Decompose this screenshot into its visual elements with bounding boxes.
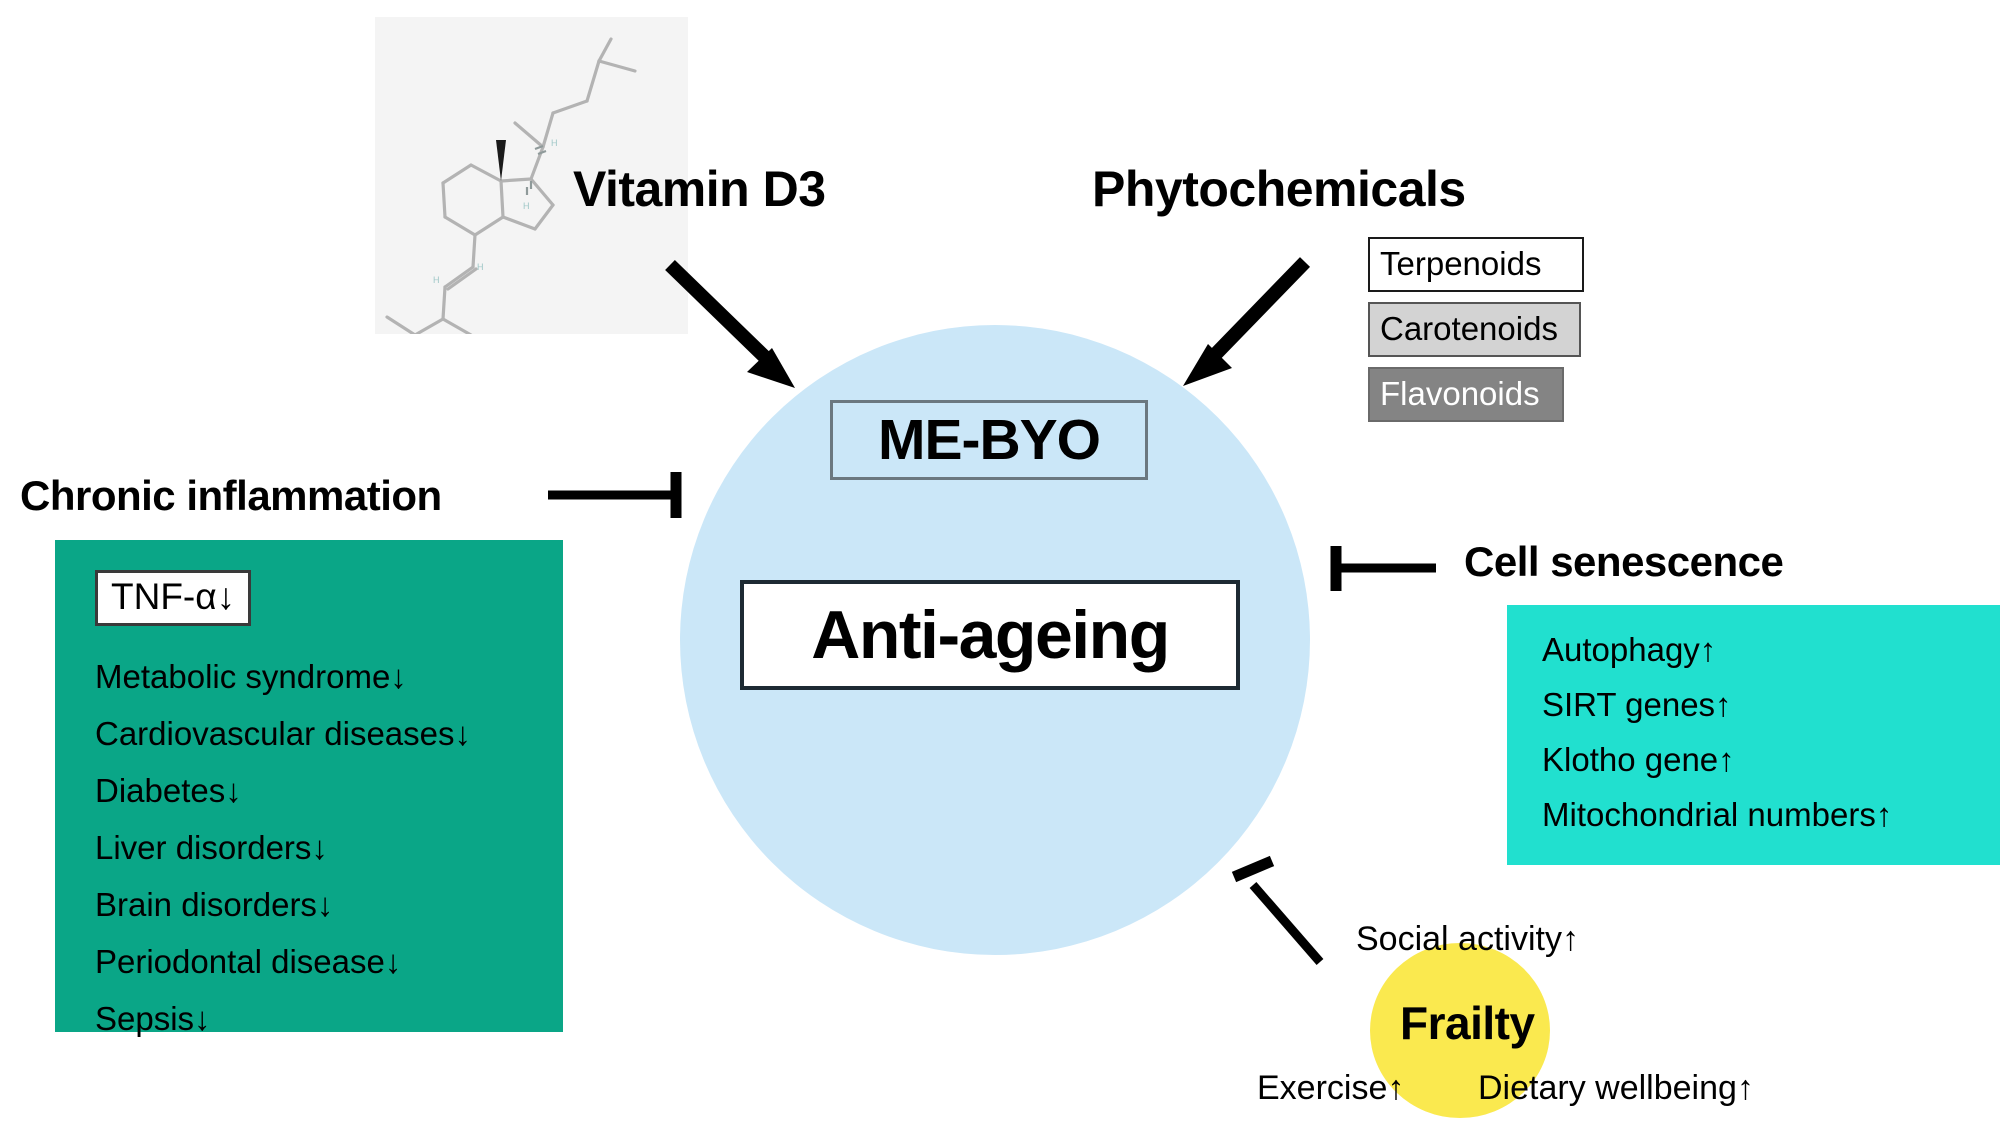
chip-terpenoids: Terpenoids [1368, 237, 1584, 292]
hydrogen-atom-label: H [551, 138, 558, 148]
list-item: SIRT genes↑ [1542, 688, 1892, 721]
list-item: Liver disorders↓ [95, 831, 471, 864]
phytochemicals-label: Phytochemicals [1092, 160, 1466, 218]
tnf-alpha-chip: TNF-α↓ [95, 570, 251, 626]
arrow-phytochemicals-to-circle [1183, 262, 1305, 386]
social-activity-label: Social activity↑ [1356, 920, 1579, 959]
antiageing-label: Anti-ageing [811, 601, 1168, 669]
phytochemical-class-list: Terpenoids Carotenoids Flavonoids [1368, 237, 1584, 432]
inhibitor-frailty [1234, 861, 1320, 962]
antiageing-box: Anti-ageing [740, 580, 1240, 690]
list-item: Diabetes↓ [95, 774, 471, 807]
list-item: Periodontal disease↓ [95, 945, 471, 978]
cell-senescence-panel: Autophagy↑ SIRT genes↑ Klotho gene↑ Mito… [1507, 605, 2000, 865]
exercise-label: Exercise↑ [1257, 1069, 1404, 1108]
inhibitor-chronic-inflammation [548, 472, 676, 518]
mebyo-label: ME-BYO [878, 412, 1100, 469]
hydrogen-atom-label: H [477, 262, 484, 272]
list-item: Sepsis↓ [95, 1002, 471, 1035]
chip-flavonoids: Flavonoids [1368, 367, 1564, 422]
list-item: Klotho gene↑ [1542, 743, 1892, 776]
cell-senescence-label: Cell senescence [1464, 538, 1783, 586]
list-item: Mitochondrial numbers↑ [1542, 798, 1892, 831]
inhibitor-cell-senescence [1336, 546, 1436, 591]
list-item: Brain disorders↓ [95, 888, 471, 921]
tnf-alpha-label: TNF-α↓ [111, 576, 235, 617]
hydrogen-atom-label: H [433, 275, 440, 285]
chip-carotenoids: Carotenoids [1368, 302, 1581, 357]
mebyo-box: ME-BYO [830, 400, 1148, 480]
arrow-vitamind3-to-circle [670, 265, 795, 388]
chronic-inflammation-label: Chronic inflammation [20, 472, 442, 520]
hydrogen-atom-label: H [523, 201, 530, 211]
chronic-inflammation-outcome-list: Metabolic syndrome↓ Cardiovascular disea… [95, 660, 471, 1059]
list-item: Metabolic syndrome↓ [95, 660, 471, 693]
list-item: Autophagy↑ [1542, 633, 1892, 666]
chronic-inflammation-panel: TNF-α↓ Metabolic syndrome↓ Cardiovascula… [55, 540, 563, 1032]
dietary-wellbeing-label: Dietary wellbeing↑ [1478, 1069, 1754, 1108]
cell-senescence-outcome-list: Autophagy↑ SIRT genes↑ Klotho gene↑ Mito… [1542, 633, 1892, 853]
frailty-label: Frailty [1400, 996, 1535, 1050]
stereo-wedge [496, 140, 506, 181]
vitamin-d3-label: Vitamin D3 [573, 160, 826, 218]
list-item: Cardiovascular diseases↓ [95, 717, 471, 750]
